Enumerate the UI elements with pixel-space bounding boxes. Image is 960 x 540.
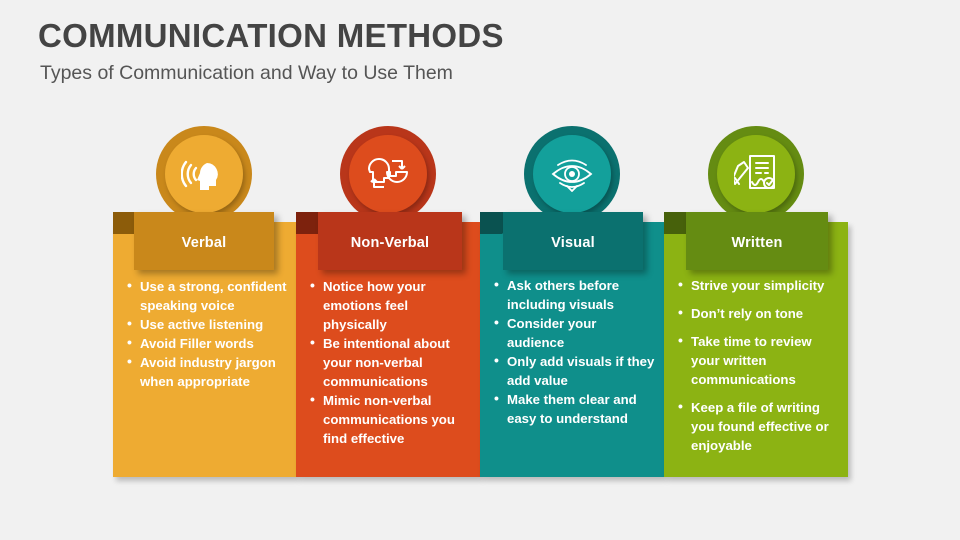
column-header-visual[interactable]: Visual bbox=[503, 212, 643, 270]
list-item: Keep a file of writing you found effecti… bbox=[678, 398, 840, 455]
list-item: Ask others before including visuals bbox=[494, 276, 656, 314]
two-heads-exchange-icon bbox=[365, 153, 411, 195]
column-header-label: Visual bbox=[551, 235, 595, 251]
list-item: Notice how your emotions feel physically bbox=[310, 277, 472, 334]
column-header-verbal[interactable]: Verbal bbox=[134, 212, 274, 270]
bullet-list-visual: Ask others before including visuals Cons… bbox=[494, 276, 656, 428]
icon-circle-written[interactable] bbox=[717, 135, 795, 213]
list-item: Avoid Filler words bbox=[127, 334, 288, 353]
icon-circle-visual[interactable] bbox=[533, 135, 611, 213]
list-item: Use active listening bbox=[127, 315, 288, 334]
list-item: Consider your audience bbox=[494, 314, 656, 352]
icon-circle-verbal[interactable] bbox=[165, 135, 243, 213]
list-item: Mimic non-verbal communications you find… bbox=[310, 391, 472, 448]
list-item: Use a strong, confident speaking voice bbox=[127, 277, 288, 315]
list-item: Avoid industry jargon when appropriate bbox=[127, 353, 288, 391]
speaking-head-icon bbox=[181, 154, 227, 194]
icon-circle-non-verbal[interactable] bbox=[349, 135, 427, 213]
column-header-label: Written bbox=[731, 235, 782, 251]
list-item: Don’t rely on tone bbox=[678, 304, 840, 323]
list-item: Make them clear and easy to understand bbox=[494, 390, 656, 428]
list-item: Strive your simplicity bbox=[678, 276, 840, 295]
eye-icon bbox=[549, 156, 595, 192]
page-subtitle: Types of Communication and Way to Use Th… bbox=[40, 62, 453, 85]
document-pen-icon bbox=[734, 152, 778, 196]
column-header-non-verbal[interactable]: Non-Verbal bbox=[318, 212, 462, 270]
list-item: Be intentional about your non-verbal com… bbox=[310, 334, 472, 391]
bullet-list-verbal: Use a strong, confident speaking voice U… bbox=[127, 277, 288, 391]
bullet-list-non-verbal: Notice how your emotions feel physically… bbox=[310, 277, 472, 448]
bullet-list-written: Strive your simplicity Don’t rely on ton… bbox=[678, 276, 840, 464]
slide-canvas: COMMUNICATION METHODS Types of Communica… bbox=[0, 0, 960, 540]
list-item: Only add visuals if they add value bbox=[494, 352, 656, 390]
column-header-written[interactable]: Written bbox=[686, 212, 828, 270]
page-title: COMMUNICATION METHODS bbox=[38, 17, 504, 55]
column-header-label: Non-Verbal bbox=[351, 235, 430, 251]
list-item: Take time to review your written communi… bbox=[678, 332, 840, 389]
column-header-label: Verbal bbox=[182, 235, 227, 251]
